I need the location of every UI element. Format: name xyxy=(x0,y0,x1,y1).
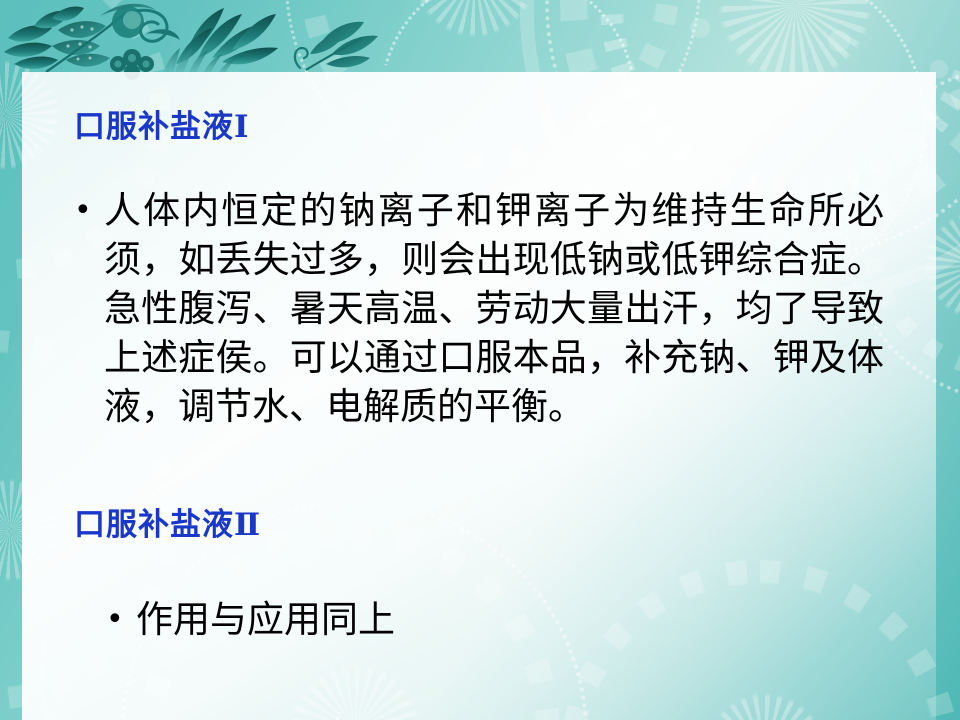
presentation-slide: 口服补盐液Ⅰ • 人体内恒定的钠离子和钾离子为维持生命所必须，如丢失过多，则会出… xyxy=(0,0,960,720)
list-item-text: 人体内恒定的钠离子和钾离子为维持生命所必须，如丢失过多，则会出现低钠或低钾综合症… xyxy=(104,186,884,431)
list-item-text: 作用与应用同上 xyxy=(136,594,806,646)
bullet-marker-icon: • xyxy=(106,594,136,646)
slide-text-layer: 口服补盐液Ⅰ • 人体内恒定的钠离子和钾离子为维持生命所必须，如丢失过多，则会出… xyxy=(0,0,960,720)
section-title: 口服补盐液Ⅱ xyxy=(74,499,261,544)
list-item: • 人体内恒定的钠离子和钾离子为维持生命所必须，如丢失过多，则会出现低钠或低钾综… xyxy=(74,186,884,431)
page-title: 口服补盐液Ⅰ xyxy=(74,101,250,146)
list-item: • 作用与应用同上 xyxy=(106,594,806,646)
bullet-marker-icon: • xyxy=(74,186,104,235)
